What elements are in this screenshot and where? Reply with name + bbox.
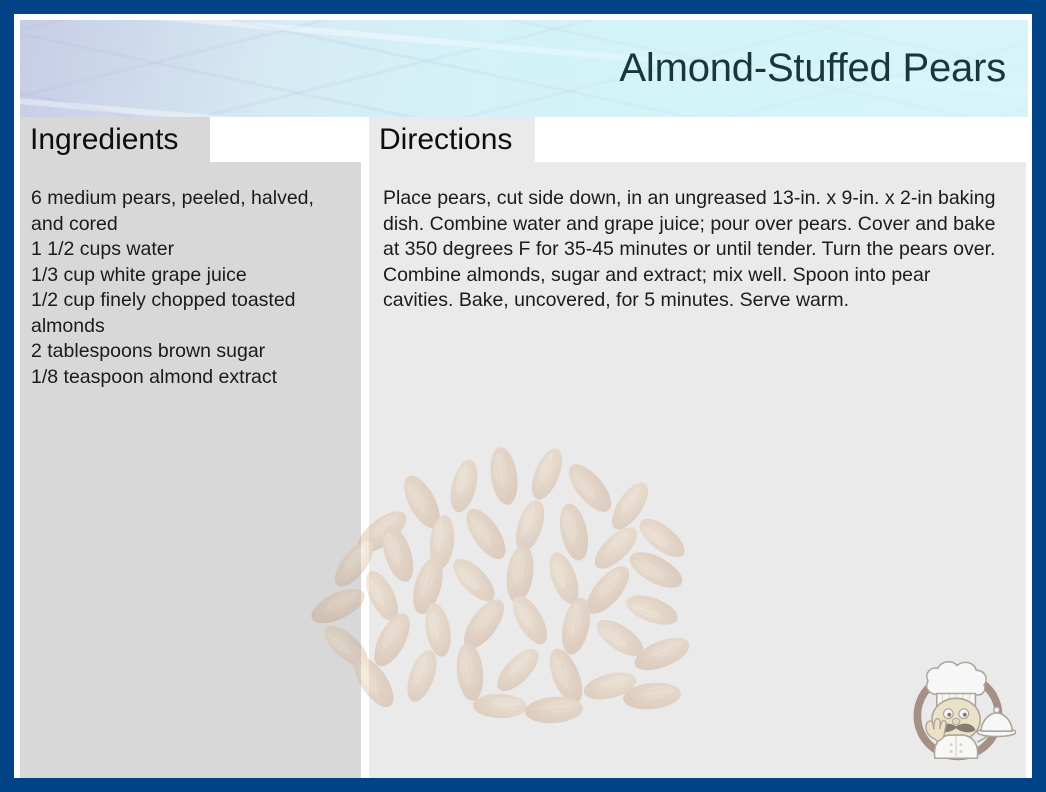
list-item: 2 tablespoons brown sugar xyxy=(31,339,339,365)
directions-section-header: Directions xyxy=(369,117,535,162)
directions-text: Place pears, cut side down, in an ungrea… xyxy=(383,186,1006,314)
ingredients-panel: 6 medium pears, peeled, halved, and core… xyxy=(20,162,361,778)
ingredients-section-header: Ingredients xyxy=(20,117,210,162)
slide-content-area: Almond-Stuffed Pears Ingredients 6 mediu… xyxy=(14,14,1032,778)
ingredients-list: 6 medium pears, peeled, halved, and core… xyxy=(31,186,339,390)
list-item: 1/2 cup finely chopped toasted almonds xyxy=(31,288,339,339)
chef-mascot-logo xyxy=(900,650,1016,766)
page-title: Almond-Stuffed Pears xyxy=(619,48,1006,88)
recipe-slide: Almond-Stuffed Pears Ingredients 6 mediu… xyxy=(0,0,1046,792)
content-columns: Ingredients 6 medium pears, peeled, halv… xyxy=(14,117,1032,778)
list-item: 6 medium pears, peeled, halved, and core… xyxy=(31,186,339,237)
list-item: 1/8 teaspoon almond extract xyxy=(31,365,339,391)
header-banner: Almond-Stuffed Pears xyxy=(20,20,1028,117)
list-item: 1 1/2 cups water xyxy=(31,237,339,263)
list-item: 1/3 cup white grape juice xyxy=(31,263,339,289)
